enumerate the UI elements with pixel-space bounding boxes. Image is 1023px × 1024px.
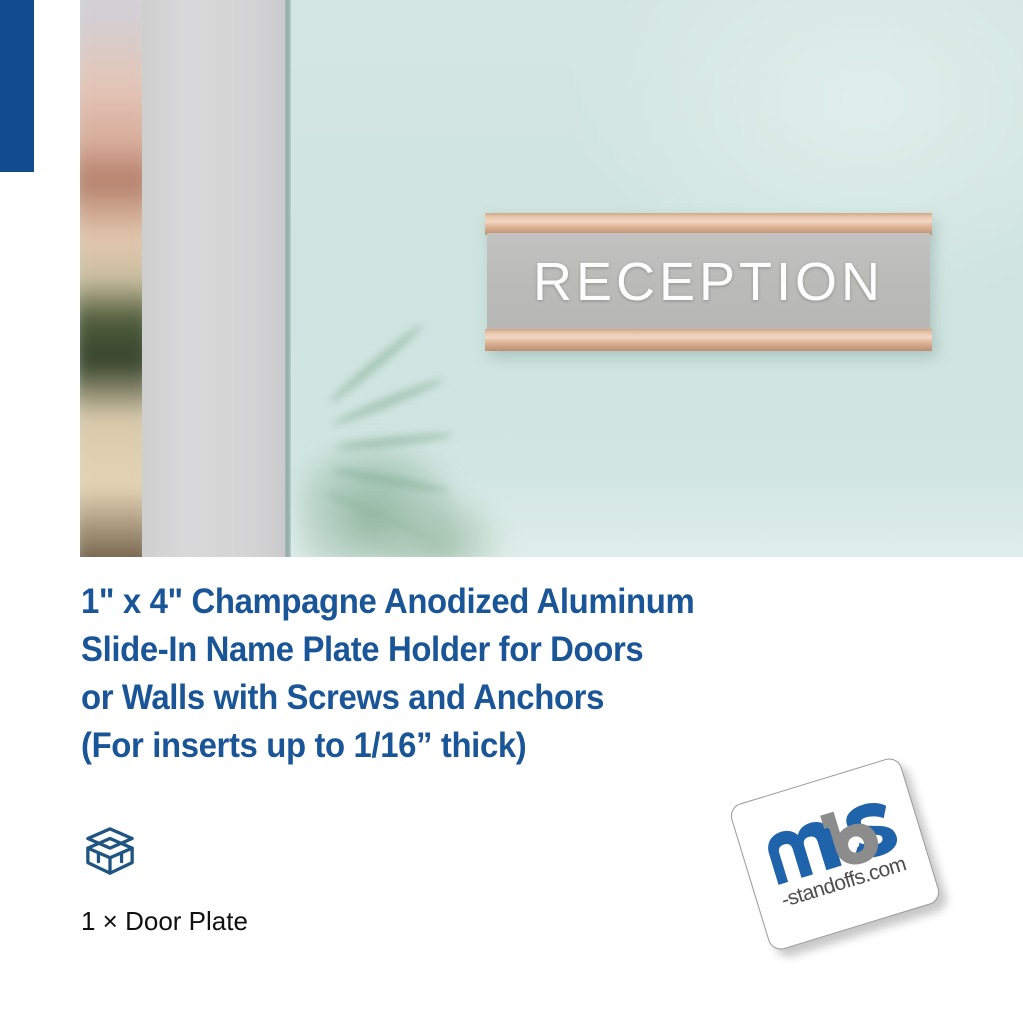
name-plate-rail-bottom xyxy=(485,329,932,351)
product-title-line-2: Slide-In Name Plate Holder for Doors xyxy=(81,626,889,674)
product-image-page: RECEPTION 1" x 4" Champagne Anodized Alu… xyxy=(0,0,1023,1024)
product-title-line-4: (For inserts up to 1/16” thick) xyxy=(81,722,889,770)
product-title-line-3: or Walls with Screws and Anchors xyxy=(81,674,889,722)
package-contents-block: 1 × Door Plate xyxy=(81,826,248,937)
open-box-icon xyxy=(81,826,139,878)
name-plate-holder: RECEPTION xyxy=(485,213,932,351)
brand-logo-card: -standoffs.com xyxy=(728,755,943,952)
name-plate-insert-text: RECEPTION xyxy=(533,251,884,313)
name-plate-rail-top xyxy=(485,213,932,235)
product-title: 1" x 4" Champagne Anodized Aluminum Slid… xyxy=(81,578,889,770)
name-plate-insert: RECEPTION xyxy=(487,233,930,331)
product-title-line-1: 1" x 4" Champagne Anodized Aluminum xyxy=(81,578,889,626)
photo-glass-reflection xyxy=(291,467,1023,557)
hero-product-photo: RECEPTION xyxy=(80,0,1023,557)
brand-accent-bar xyxy=(0,0,34,172)
photo-door-jamb xyxy=(142,0,288,557)
package-contents-text: 1 × Door Plate xyxy=(81,906,248,937)
